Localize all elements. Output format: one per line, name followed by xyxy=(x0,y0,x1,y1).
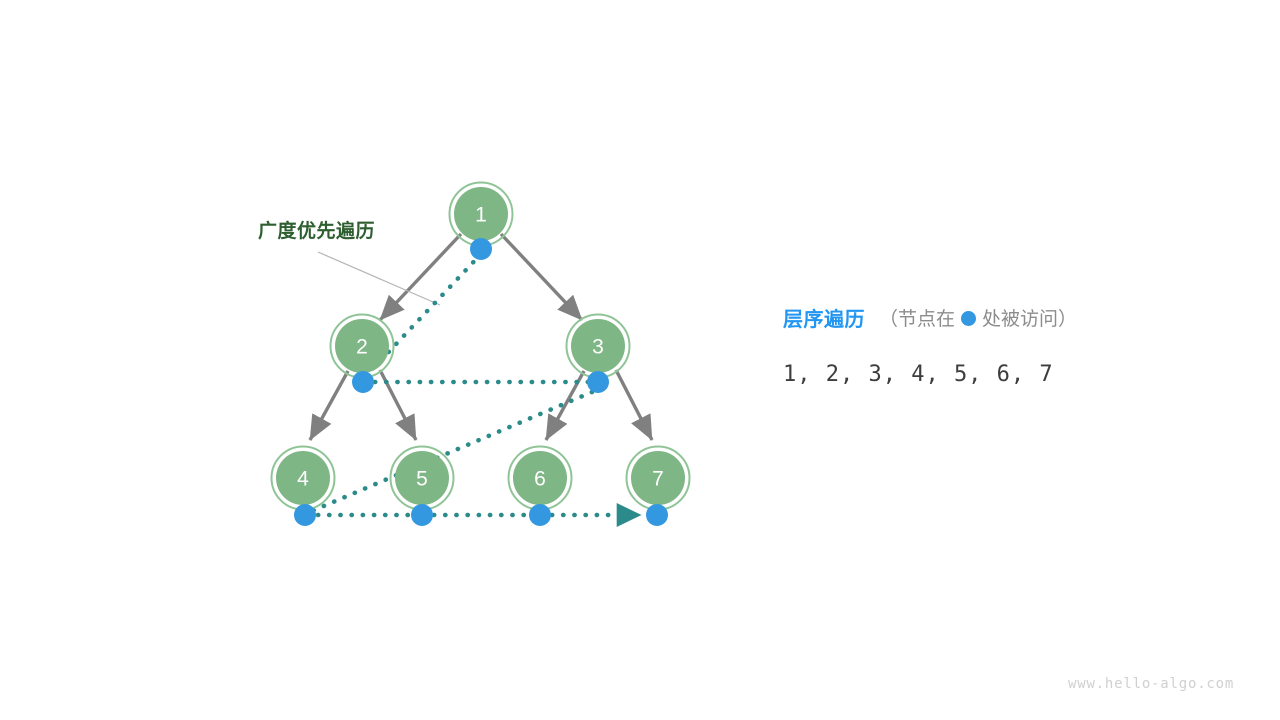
legend-note-close: 处被访问） xyxy=(982,304,1077,331)
tree-edge-2-4 xyxy=(310,371,348,440)
visit-dot-node-7[interactable] xyxy=(646,504,668,526)
tree-node-1[interactable]: 1 xyxy=(450,183,513,246)
node-label: 6 xyxy=(534,468,546,491)
legend: 层序遍历 （节点在 处被访问） xyxy=(783,303,1077,332)
visit-dot-node-4[interactable] xyxy=(294,504,316,526)
bfs-annotation-label: 广度优先遍历 xyxy=(258,216,375,243)
node-label: 7 xyxy=(652,468,664,491)
tree-node-2[interactable]: 2 xyxy=(331,315,394,378)
tree-edge-1-3 xyxy=(501,234,582,320)
tree-node-4[interactable]: 4 xyxy=(272,447,335,510)
leader-line xyxy=(318,252,440,305)
visit-markers xyxy=(294,238,668,526)
legend-note-open: （节点在 xyxy=(879,304,955,331)
tree-edge-1-2 xyxy=(380,234,461,320)
tree-node-3[interactable]: 3 xyxy=(567,315,630,378)
watermark: www.hello-algo.com xyxy=(1068,676,1234,692)
legend-note: （节点在 处被访问） xyxy=(879,304,1077,331)
tree-node-5[interactable]: 5 xyxy=(391,447,454,510)
visit-dot-node-2[interactable] xyxy=(352,371,374,393)
tree-node-6[interactable]: 6 xyxy=(509,447,572,510)
tree-edge-3-7 xyxy=(616,370,652,440)
node-label: 3 xyxy=(592,336,604,359)
legend-title: 层序遍历 xyxy=(783,303,865,332)
visit-dot-node-6[interactable] xyxy=(529,504,551,526)
visit-marker-icon xyxy=(961,311,976,326)
node-label: 5 xyxy=(416,468,428,491)
node-label: 4 xyxy=(297,468,309,491)
visit-dot-node-5[interactable] xyxy=(411,504,433,526)
node-label: 2 xyxy=(356,336,368,359)
visit-dot-node-3[interactable] xyxy=(587,371,609,393)
node-label: 1 xyxy=(475,204,487,227)
tree-diagram-canvas: 1 2 3 4 5 6 7 xyxy=(0,0,1280,720)
traversal-sequence: 1, 2, 3, 4, 5, 6, 7 xyxy=(783,362,1054,387)
visit-dot-node-1[interactable] xyxy=(470,238,492,260)
tree-node-7[interactable]: 7 xyxy=(627,447,690,510)
